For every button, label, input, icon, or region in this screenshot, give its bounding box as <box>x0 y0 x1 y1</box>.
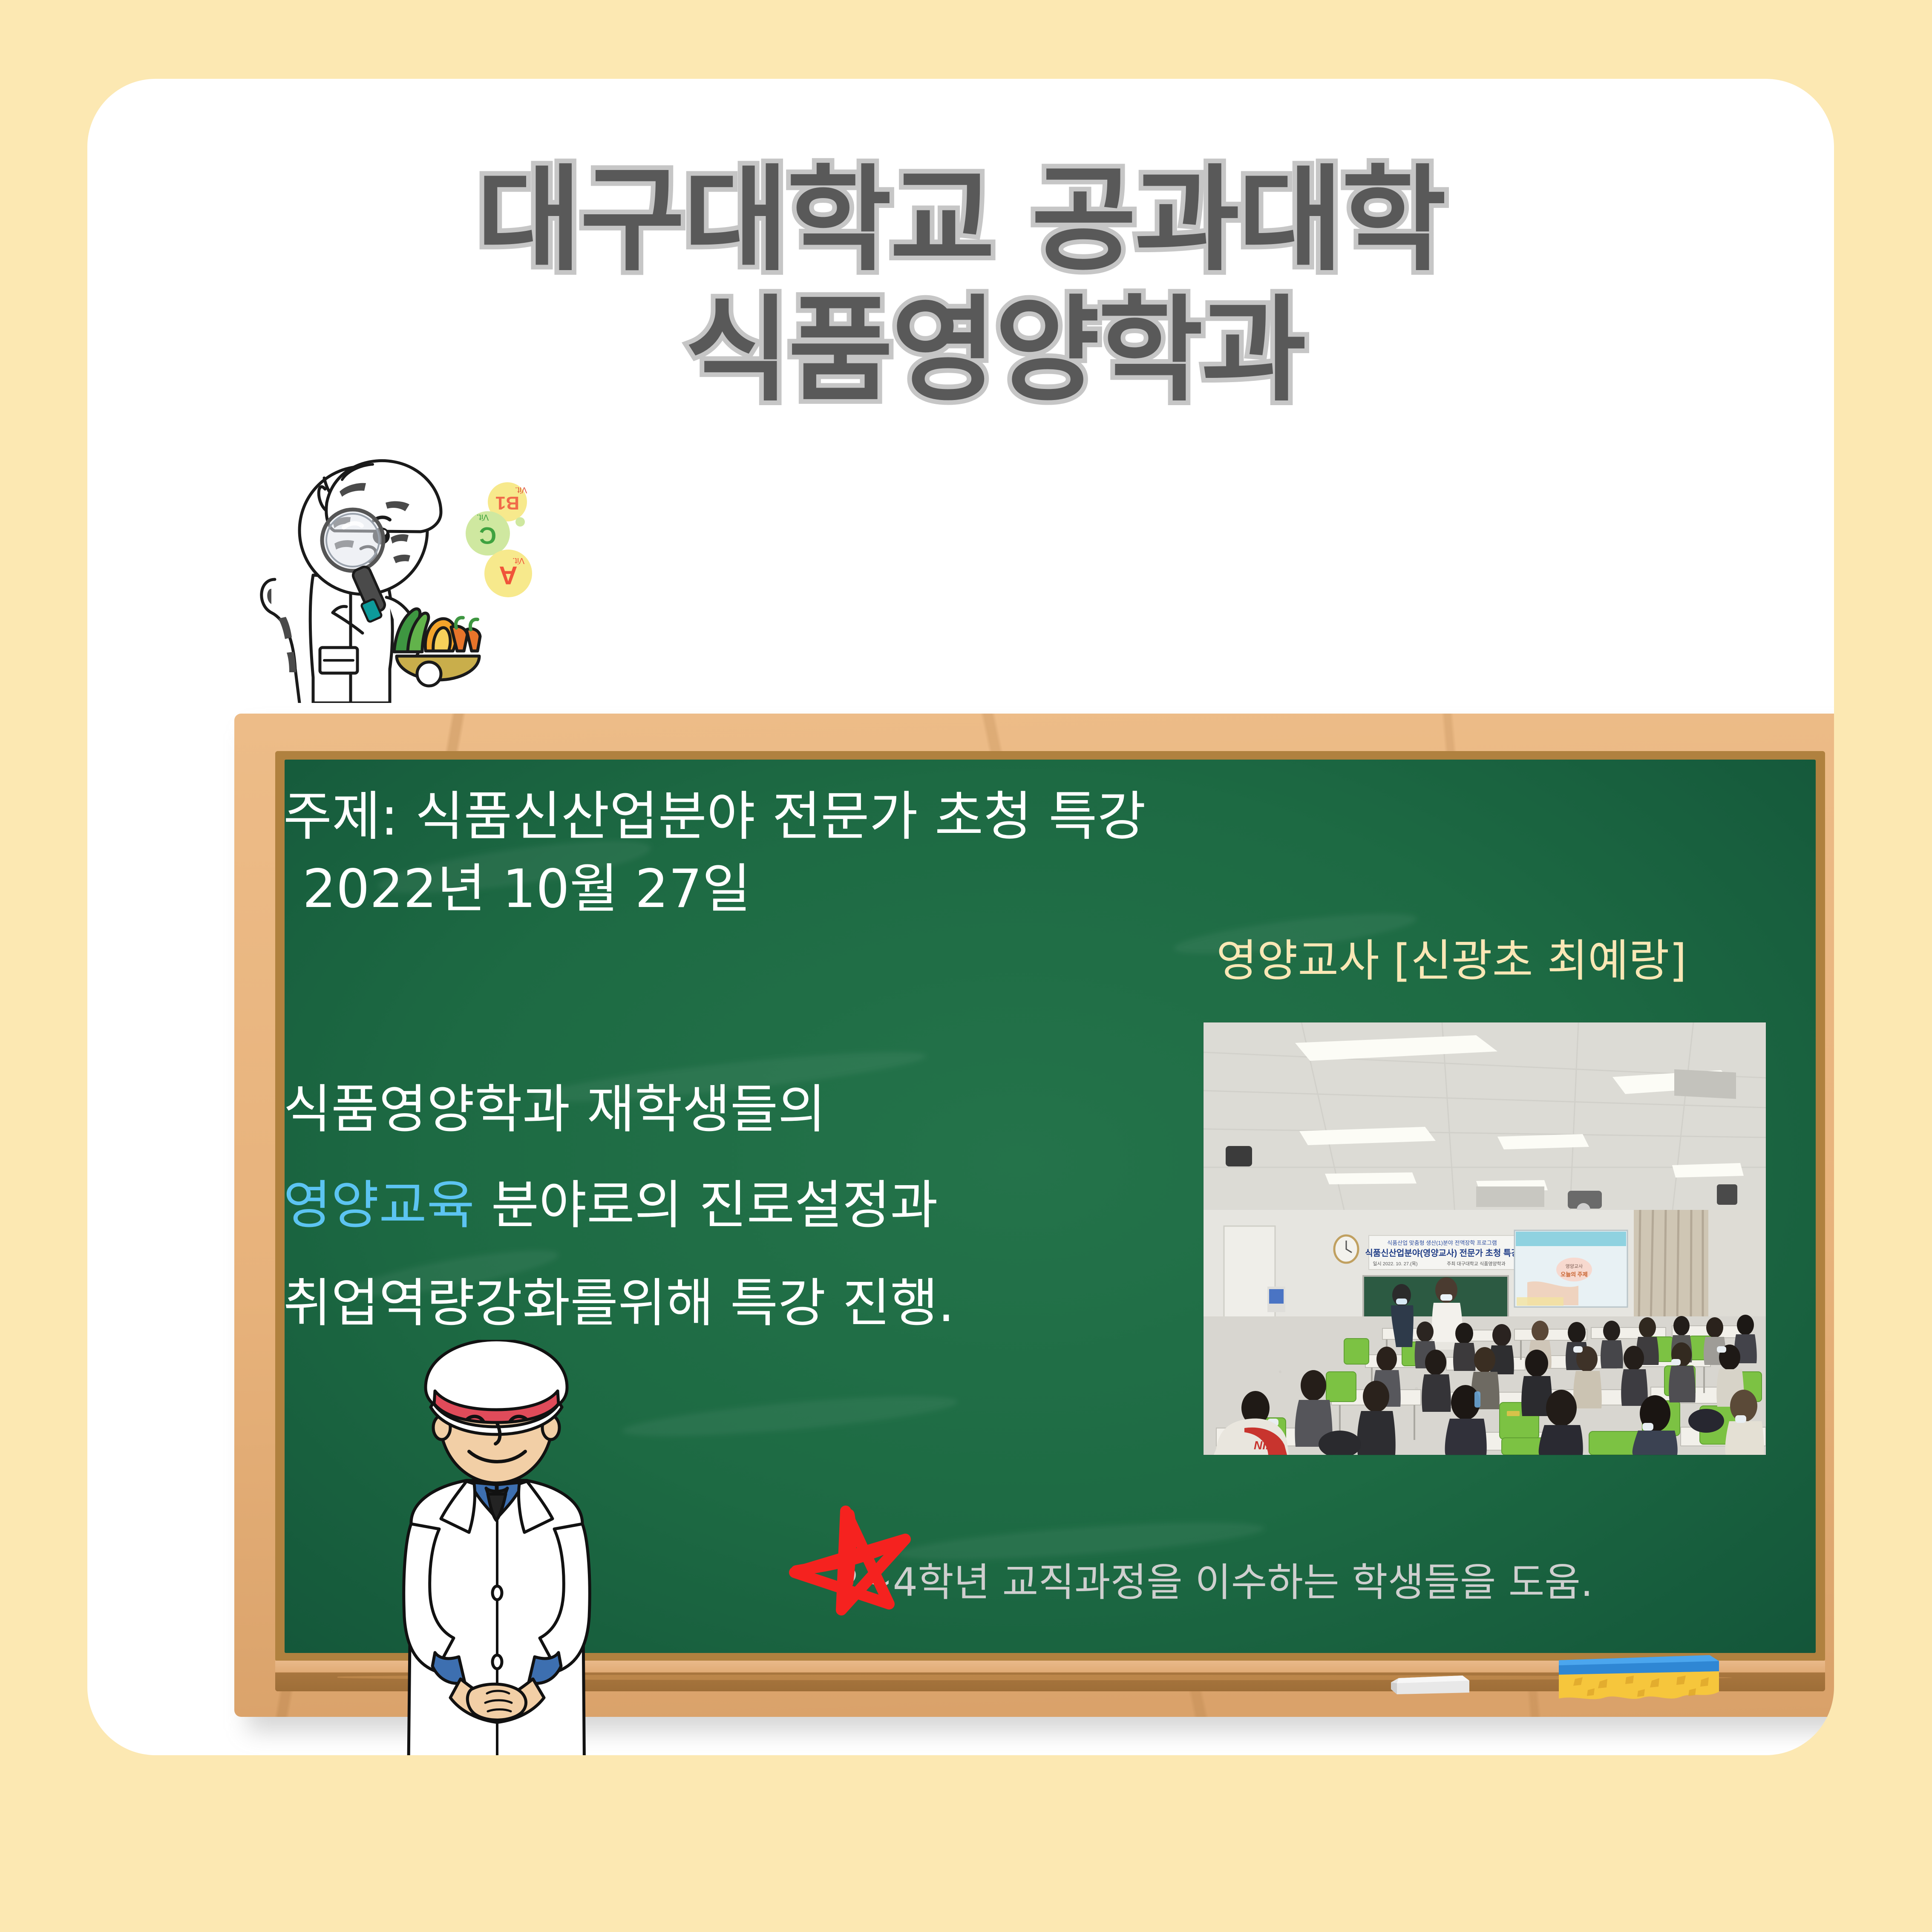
svg-text:NIKE: NIKE <box>1254 1439 1283 1452</box>
footnote-text: 2~4학년 교직과정을 이수하는 학생들을 도움. <box>835 1551 1593 1607</box>
page-title: 대구대학교 공과대학 식품영양학과 <box>87 155 1834 416</box>
svg-text:Vit.: Vit. <box>515 485 527 495</box>
lecture-hall-photo: 식품산업 맞춤형 생산(1)분야 전액장학 프로그램 식품신산업분야(영양교사)… <box>1204 1022 1766 1455</box>
body-text-line-3: 취업역량강화를위해 특강 진행. <box>283 1261 954 1336</box>
red-star-icon <box>777 1489 922 1634</box>
tiger-mascot-illustration: B1 Vit. C Vit. A Vit. <box>249 439 547 703</box>
title-line-2: 식품영양학과 <box>87 286 1834 416</box>
svg-text:Vit.: Vit. <box>477 513 489 522</box>
speaker-name-text: 영양교사 [신광초 최예랑] <box>1216 924 1687 989</box>
svg-text:영양교사: 영양교사 <box>1566 1264 1583 1269</box>
svg-text:식품신산업분야(영양교사) 전문가 초청 특강: 식품신산업분야(영양교사) 전문가 초청 특강 <box>1365 1248 1519 1258</box>
body-text-line-2: 영양교육 분야로의 진로설정과 <box>283 1163 938 1238</box>
poster-card: 대구대학교 공과대학 식품영양학과 <box>87 79 1834 1755</box>
svg-text:주최 대구대학교 식품영양학과: 주최 대구대학교 식품영양학과 <box>1447 1261 1506 1267</box>
svg-text:식품산업 맞춤형 생산(1)분야 전액장학 프로그램: 식품산업 맞춤형 생산(1)분야 전액장학 프로그램 <box>1387 1240 1497 1246</box>
lecture-date-text: 2022년 10월 27일 <box>302 846 751 922</box>
svg-text:일시 2022. 10. 27.(목): 일시 2022. 10. 27.(목) <box>1373 1261 1418 1267</box>
body-text-line-1: 식품영양학과 재학생들의 <box>283 1067 826 1143</box>
sponge-eraser-icon <box>1553 1651 1719 1704</box>
body-text-line-2-rest: 분야로의 진로설정과 <box>475 1175 938 1235</box>
lecture-topic-text: 주제: 식품신산업분야 전문가 초청 특강 <box>283 773 1146 850</box>
svg-text:C: C <box>479 522 496 549</box>
nutritionist-character-illustration <box>360 1340 633 1755</box>
highlight-nutrition-education: 영양교육 <box>283 1175 475 1235</box>
svg-text:B1: B1 <box>495 492 519 513</box>
chalk-icon <box>1391 1672 1470 1694</box>
title-line-1: 대구대학교 공과대학 <box>87 155 1834 286</box>
svg-text:Vit.: Vit. <box>513 556 525 565</box>
svg-text:오늘의 주제: 오늘의 주제 <box>1561 1271 1587 1278</box>
